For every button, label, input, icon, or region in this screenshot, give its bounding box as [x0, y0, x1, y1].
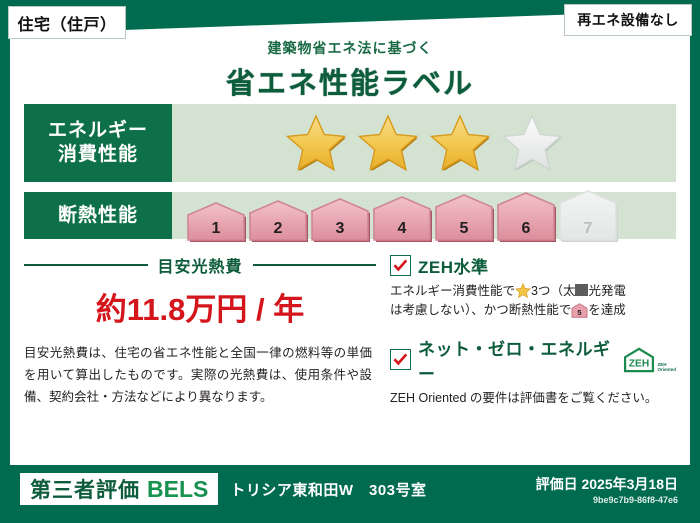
star-icon-filled: [285, 113, 347, 173]
bels-badge: 第三者評価 BELS: [20, 473, 218, 505]
checkbox-zeh-standard[interactable]: [390, 255, 411, 276]
insulation-level-number: 7: [558, 220, 618, 238]
svg-text:5: 5: [578, 308, 582, 317]
insulation-house-filled: 6: [496, 191, 556, 242]
insulation-house-empty: 7: [558, 189, 618, 242]
zeh-text-a: エネルギー消費性能で: [390, 284, 515, 298]
star-icon-empty: [501, 113, 563, 173]
evaluation-id: 9be9c7b9-86f8-47e6: [536, 495, 678, 505]
star-icon-inline: [515, 283, 531, 298]
insulation-level-number: 3: [310, 220, 370, 238]
insulation-house-filled: 4: [372, 195, 432, 242]
bels-japanese-text: 第三者評価: [30, 474, 140, 504]
property-name: トリシア東和田W 303号室: [230, 479, 426, 500]
star-rating: [285, 113, 563, 173]
zeh-text-e: を達成: [588, 303, 626, 317]
insulation-house-filled: 3: [310, 197, 370, 242]
checkbox-net-zero-energy[interactable]: [390, 349, 411, 370]
net-zero-header: ネット・ゼロ・エネルギー ZEH ZEH Oriented: [390, 335, 676, 385]
zeh-standard-block: ZEH水準 エネルギー消費性能で3つ（太光発電は考慮しない）、かつ断熱性能で5を…: [390, 253, 676, 325]
zeh-standard-body: エネルギー消費性能で3つ（太光発電は考慮しない）、かつ断熱性能で5を達成: [390, 282, 676, 325]
house-badge-inline: 5: [571, 303, 588, 324]
insulation-level-number: 6: [496, 220, 556, 238]
zeh-logo-sub2: Oriented: [657, 367, 676, 372]
utility-cost-section: 目安光熱費 約11.8万円 / 年 目安光熱費は、住宅の省エネ性能と全国一律の燃…: [24, 249, 376, 418]
insulation-house-filled: 2: [248, 199, 308, 242]
label-title-block: 建築物省エネ法に基づく 省エネ性能ラベル: [0, 38, 700, 102]
insulation-level-number: 4: [372, 220, 432, 238]
star-icon-filled: [357, 113, 419, 173]
badge-renewable-equipment: 再エネ設備なし: [564, 4, 692, 36]
zeh-oriented-logo-icon: ZEH ZEH Oriented: [623, 347, 676, 373]
page-title: 省エネ性能ラベル: [0, 60, 700, 102]
net-zero-body: ZEH Oriented の要件は評価書をご覧ください。: [390, 389, 676, 408]
lower-section: 目安光熱費 約11.8万円 / 年 目安光熱費は、住宅の省エネ性能と全国一律の燃…: [24, 249, 676, 418]
insulation-performance-value: 1234567: [172, 192, 676, 239]
utility-cost-note: 目安光熱費は、住宅の省エネ性能と全国一律の燃料等の単価を用いて算出したものです。…: [24, 343, 376, 409]
svg-text:ZEH: ZEH: [629, 358, 649, 369]
evaluation-info: 評価日 2025年3月18日 9be9c7b9-86f8-47e6: [536, 474, 678, 505]
star-icon-filled: [429, 113, 491, 173]
label-content: エネルギー 消費性能 断熱性能 1234567 目安光熱費: [24, 104, 676, 418]
insulation-house-filled: 5: [434, 193, 494, 242]
row-energy-performance: エネルギー 消費性能: [24, 104, 676, 182]
zeh-text-b: 3つ（太: [531, 284, 575, 298]
insulation-level-number: 1: [186, 220, 246, 238]
check-icon: [393, 353, 408, 366]
evaluation-date: 評価日 2025年3月18日: [536, 474, 678, 494]
insulation-level-number: 5: [434, 220, 494, 238]
bels-logo-text: BELS: [147, 476, 208, 503]
energy-performance-label: 住宅（住戸） 再エネ設備なし 建築物省エネ法に基づく 省エネ性能ラベル エネルギ…: [0, 0, 700, 523]
zeh-text-d: は考慮しない）、かつ断熱性能で: [390, 303, 571, 317]
title-subtitle: 建築物省エネ法に基づく: [0, 38, 700, 58]
zeh-section: ZEH水準 エネルギー消費性能で3つ（太光発電は考慮しない）、かつ断熱性能で5を…: [376, 249, 676, 418]
redacted-block: [575, 284, 588, 296]
zeh-standard-title: ZEH水準: [418, 253, 489, 278]
energy-performance-label: エネルギー 消費性能: [24, 104, 172, 182]
utility-cost-amount: 約11.8万円 / 年: [24, 284, 376, 329]
badge-dwelling-type: 住宅（住戸）: [8, 6, 126, 39]
net-zero-title: ネット・ゼロ・エネルギー: [418, 335, 612, 385]
row-insulation-performance: 断熱性能 1234567: [24, 192, 676, 239]
label-footer: 第三者評価 BELS トリシア東和田W 303号室 評価日 2025年3月18日…: [10, 465, 690, 513]
insulation-level-scale: 1234567: [186, 189, 618, 242]
net-zero-energy-block: ネット・ゼロ・エネルギー ZEH ZEH Oriented: [390, 335, 676, 408]
rule-left: [24, 264, 148, 266]
zeh-text-c: 光発電: [588, 284, 626, 298]
zeh-standard-header: ZEH水準: [390, 253, 676, 278]
energy-label-line1: エネルギー: [48, 119, 148, 143]
insulation-level-number: 2: [248, 220, 308, 238]
check-icon: [393, 259, 408, 272]
energy-label-line2: 消費性能: [58, 143, 138, 167]
insulation-house-filled: 1: [186, 201, 246, 242]
rule-right: [253, 264, 377, 266]
insulation-performance-label: 断熱性能: [24, 192, 172, 239]
utility-cost-heading: 目安光熱費: [24, 253, 376, 277]
insulation-label-text: 断熱性能: [58, 204, 138, 228]
zeh-logo-subtext: ZEH Oriented: [657, 363, 676, 373]
energy-performance-value: [172, 104, 676, 182]
utility-cost-title: 目安光熱費: [148, 253, 253, 277]
